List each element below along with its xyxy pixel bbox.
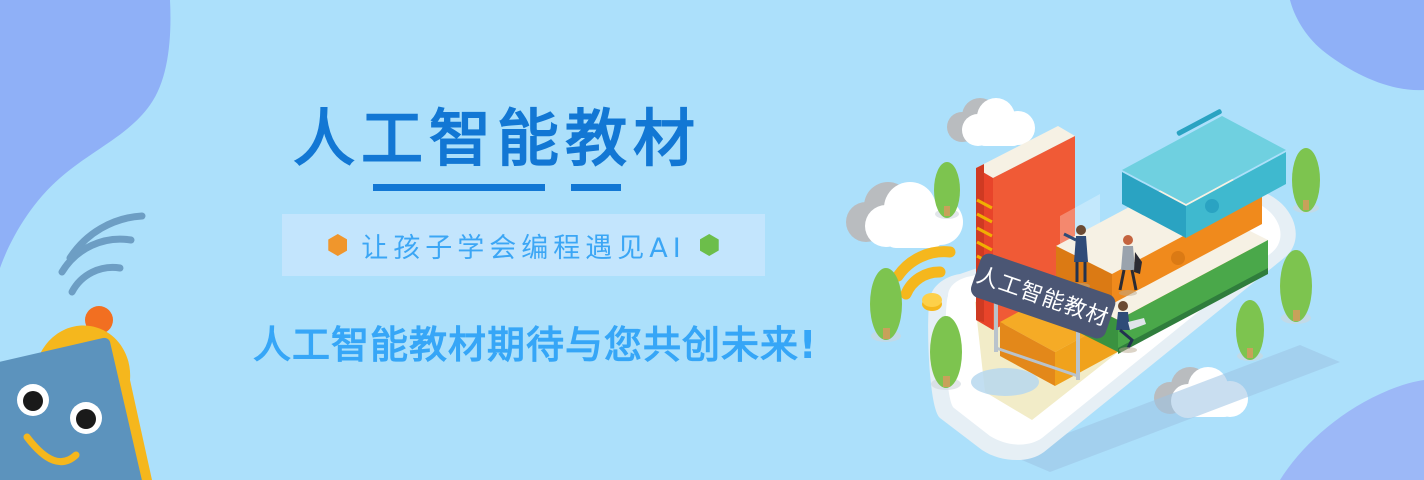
tree-far-right [1236,300,1264,361]
tree-right-upper [1292,148,1320,213]
hexagon-bullet-right-icon [700,234,719,256]
subtitle-text: 让孩子学会编程遇见AI [361,226,685,265]
copy-block: 人工智能教材 让孩子学会编程遇见AI 人工智能教材期待与您共创未来! [0,0,860,480]
subtitle-band: 让孩子学会编程遇见AI [282,214,765,276]
title-divider [373,184,673,191]
ai-textbook-banner: 人工智能教材 [0,0,1424,480]
divider-bar-short [571,184,621,191]
tree-left-front [870,268,902,342]
page-title: 人工智能教材 [293,104,701,174]
tree-right-lower [1280,250,1312,324]
subtitle-row: 让孩子学会编程遇见AI [282,214,765,276]
divider-bar-long [373,184,545,191]
pond-shape [971,368,1039,396]
tagline-text: 人工智能教材期待与您共创未来! [253,322,817,368]
hexagon-bullet-left-icon [328,234,347,256]
cloud-upper-right [947,98,1035,146]
